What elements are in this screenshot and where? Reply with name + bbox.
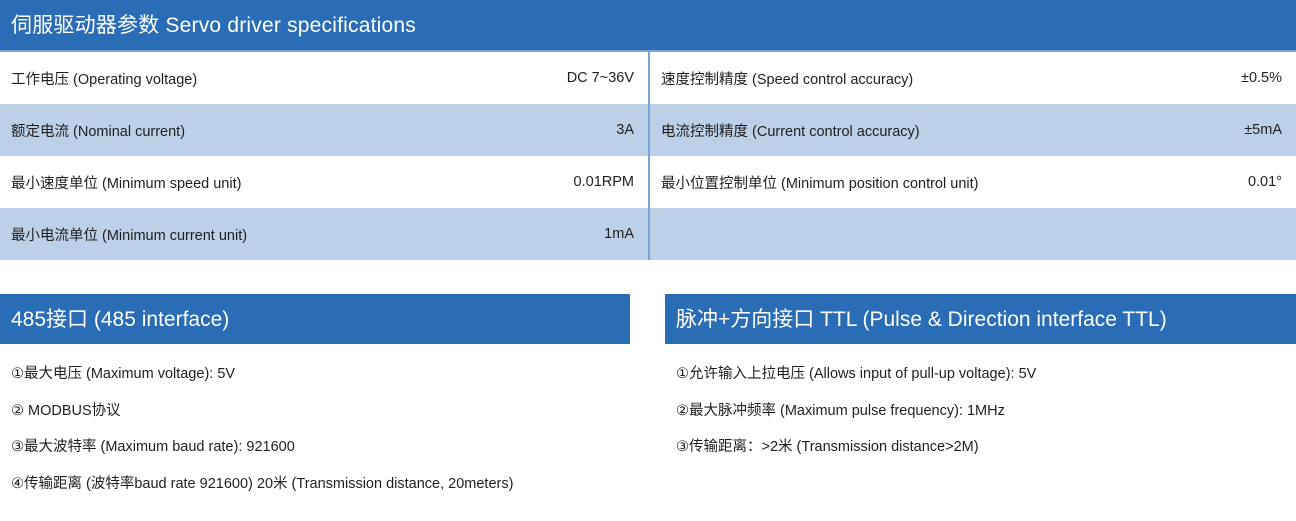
table-row: 电流控制精度 (Current control accuracy) ±5mA	[650, 104, 1296, 156]
list-item: ②最大脉冲频率 (Maximum pulse frequency): 1MHz	[676, 393, 1296, 430]
spec-value: 0.01RPM	[574, 174, 634, 190]
table-row: 最小位置控制单位 (Minimum position control unit)…	[650, 156, 1296, 208]
section-485-title: 485接口 (485 interface)	[11, 309, 229, 330]
section-ttl-body: ①允许输入上拉电压 (Allows input of pull-up volta…	[665, 344, 1296, 466]
list-item: ④传输距离 (波特率baud rate 921600) 20米 (Transmi…	[11, 466, 630, 503]
spec-value: ±5mA	[1244, 122, 1282, 138]
table-row-empty	[650, 208, 1296, 260]
list-item: ③传输距离：>2米 (Transmission distance>2M)	[676, 429, 1296, 466]
spec-value: DC 7~36V	[567, 70, 634, 86]
section-485-body: ①最大电压 (Maximum voltage): 5V ② MODBUS协议 ③…	[0, 344, 630, 502]
spec-value: ±0.5%	[1241, 70, 1282, 86]
spec-value: 1mA	[604, 226, 634, 242]
table-row: 最小速度单位 (Minimum speed unit) 0.01RPM	[0, 156, 648, 208]
section-ttl-interface: 脉冲+方向接口 TTL (Pulse & Direction interface…	[665, 294, 1296, 502]
spec-table-header: 伺服驱动器参数 Servo driver specifications	[0, 0, 1296, 50]
spec-label: 最小速度单位 (Minimum speed unit)	[11, 172, 241, 193]
table-row: 速度控制精度 (Speed control accuracy) ±0.5%	[650, 52, 1296, 104]
spec-value: 3A	[616, 122, 634, 138]
spec-label: 速度控制精度 (Speed control accuracy)	[661, 68, 913, 89]
spec-value: 0.01°	[1248, 174, 1282, 190]
section-divider-gap	[0, 260, 1296, 294]
spec-label: 电流控制精度 (Current control accuracy)	[661, 120, 920, 141]
section-485-interface: 485接口 (485 interface) ①最大电压 (Maximum vol…	[0, 294, 630, 502]
spec-label: 最小电流单位 (Minimum current unit)	[11, 224, 247, 245]
section-column-spacer	[630, 294, 665, 502]
table-row: 最小电流单位 (Minimum current unit) 1mA	[0, 208, 648, 260]
spec-table-left-column: 工作电压 (Operating voltage) DC 7~36V 额定电流 (…	[0, 52, 648, 260]
spec-table-right-column: 速度控制精度 (Speed control accuracy) ±0.5% 电流…	[648, 52, 1296, 260]
section-ttl-title: 脉冲+方向接口 TTL (Pulse & Direction interface…	[676, 309, 1167, 330]
section-ttl-header: 脉冲+方向接口 TTL (Pulse & Direction interface…	[665, 294, 1296, 344]
section-485-header: 485接口 (485 interface)	[0, 294, 630, 344]
list-item: ①最大电压 (Maximum voltage): 5V	[11, 356, 630, 393]
spec-table: 工作电压 (Operating voltage) DC 7~36V 额定电流 (…	[0, 50, 1296, 260]
spec-label: 最小位置控制单位 (Minimum position control unit)	[661, 172, 978, 193]
table-row: 额定电流 (Nominal current) 3A	[0, 104, 648, 156]
list-item: ② MODBUS协议	[11, 393, 630, 430]
table-row: 工作电压 (Operating voltage) DC 7~36V	[0, 52, 648, 104]
spec-label: 工作电压 (Operating voltage)	[11, 68, 197, 89]
spec-label: 额定电流 (Nominal current)	[11, 120, 185, 141]
list-item: ①允许输入上拉电压 (Allows input of pull-up volta…	[676, 356, 1296, 393]
list-item: ③最大波特率 (Maximum baud rate): 921600	[11, 429, 630, 466]
interface-sections: 485接口 (485 interface) ①最大电压 (Maximum vol…	[0, 294, 1296, 502]
spec-table-title: 伺服驱动器参数 Servo driver specifications	[11, 15, 416, 36]
